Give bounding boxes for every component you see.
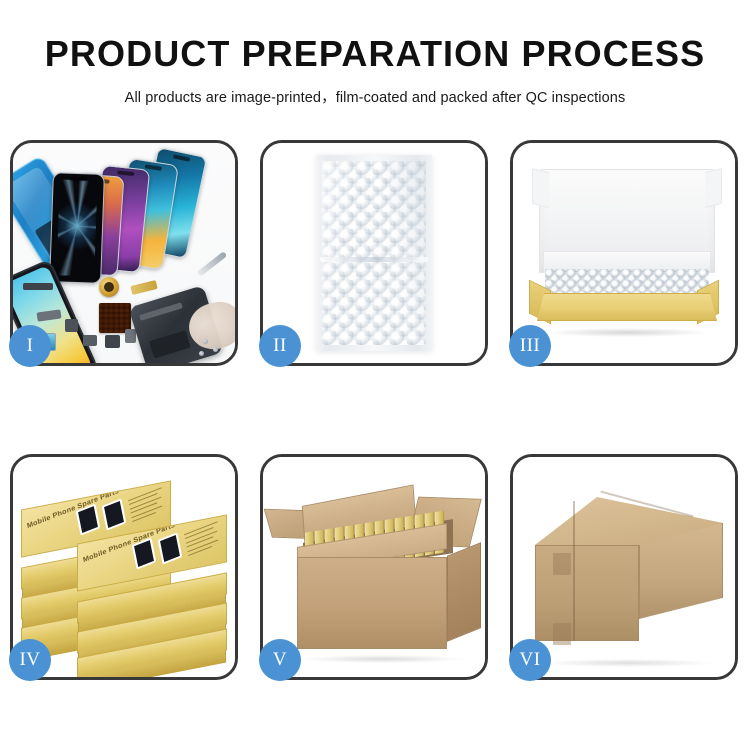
step-badge-2: II [259, 325, 301, 367]
box-spec-lines [128, 487, 168, 532]
step-badge-1: I [9, 325, 51, 367]
part-screw-3 [199, 351, 204, 356]
step-panel-5[interactable]: V [260, 454, 488, 680]
box-spec-lines [184, 521, 224, 566]
page-subtitle: All products are image-printed，film-coat… [0, 86, 750, 107]
steps-grid: I II [10, 140, 740, 680]
sealed-carton-front [535, 545, 639, 641]
step-image-carton-filled [263, 457, 485, 677]
product-preparation-infographic: PRODUCT PREPARATION PROCESS All products… [0, 0, 750, 750]
box-screen-window [76, 503, 101, 535]
step-badge-3: III [509, 325, 551, 367]
page-title: PRODUCT PREPARATION PROCESS [0, 33, 750, 75]
step-panel-2[interactable]: II [260, 140, 488, 366]
carton-shadow [303, 655, 463, 663]
box-screen-window [158, 532, 183, 564]
step-image-bubble-wrap [263, 143, 485, 363]
sealed-carton-seam-vertical [573, 501, 575, 641]
step-badge-4: IV [9, 639, 51, 681]
part-screw-2 [213, 347, 218, 352]
step-panel-3[interactable]: III [510, 140, 738, 366]
header: PRODUCT PREPARATION PROCESS All products… [0, 0, 750, 107]
part-chip-3 [105, 335, 120, 348]
mailer-box-front [537, 293, 717, 321]
sealed-carton-shadow [543, 659, 713, 667]
mailer-box-shadow [547, 328, 707, 337]
step-image-products-and-parts [13, 143, 235, 363]
step-panel-6[interactable]: VI [510, 454, 738, 680]
carton-side-panel [447, 542, 481, 642]
step-badge-6: VI [509, 639, 551, 681]
sealed-carton-tape-lower [553, 623, 571, 645]
part-screw-1 [203, 339, 208, 344]
repair-tool [197, 251, 227, 277]
part-coil [99, 277, 119, 297]
sealed-carton-tape-upper [553, 553, 571, 575]
part-chip-4 [125, 329, 136, 343]
mailer-box-bubble-fill [545, 269, 709, 295]
step-image-carton-sealed [513, 457, 735, 677]
step-badge-5: V [259, 639, 301, 681]
steps-row-1: I II [10, 140, 740, 366]
part-bar-dark [23, 283, 53, 290]
step-panel-1[interactable]: I [10, 140, 238, 366]
phone-black-cracked [49, 172, 105, 284]
step-panel-4[interactable]: Mobile Phone Spare Parts Mobile Phone Sp… [10, 454, 238, 680]
part-chip-2 [83, 335, 97, 346]
steps-row-2: Mobile Phone Spare Parts Mobile Phone Sp… [10, 454, 740, 680]
step-image-boxes-stacked: Mobile Phone Spare Parts Mobile Phone Sp… [13, 457, 235, 677]
retail-box-stack: Mobile Phone Spare Parts Mobile Phone Sp… [21, 475, 235, 673]
bubble-wrapped-item [316, 155, 432, 351]
bubble-wrap-seam [320, 257, 428, 262]
part-flex-cable-gold [130, 280, 157, 295]
part-chip-1 [65, 319, 78, 332]
step-image-inner-box-packing [513, 143, 735, 363]
bubble-wrap-texture [322, 161, 426, 345]
box-screen-window [102, 498, 127, 530]
carton-front-panel [297, 557, 447, 649]
box-screen-window [132, 537, 157, 569]
